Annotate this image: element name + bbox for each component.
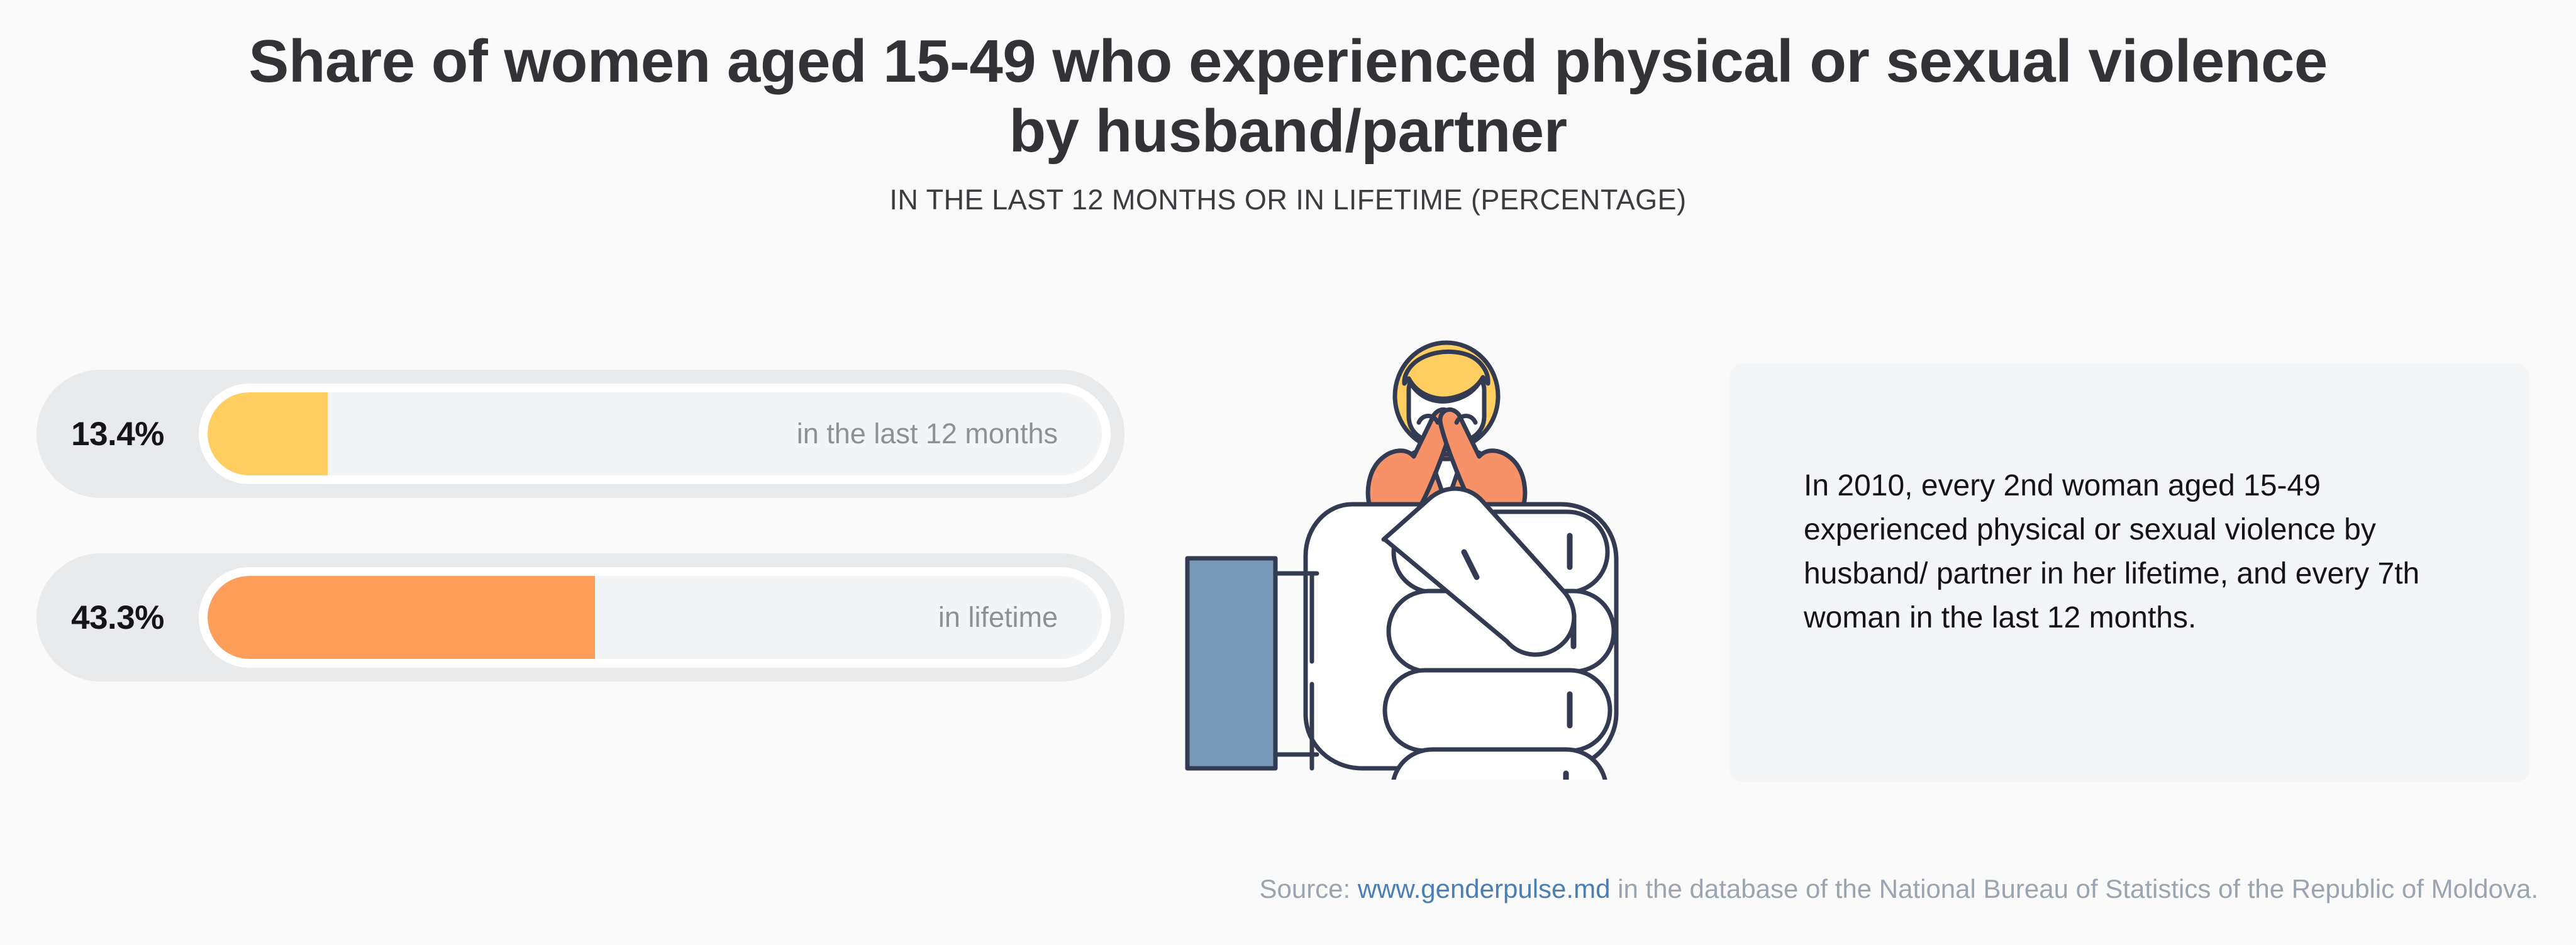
callout-text: In 2010, every 2nd woman aged 15-49 expe… [1804,464,2455,640]
page-subtitle: IN THE LAST 12 MONTHS OR IN LIFETIME (PE… [0,167,2576,217]
callout-box: In 2010, every 2nd woman aged 15-49 expe… [1729,363,2529,782]
bar-label-last-12-months: in the last 12 months [797,417,1058,450]
bar-track-wrapper-lifetime: in lifetime [199,567,1111,668]
bar-chart: 13.4% in the last 12 months 43.3% in lif… [36,370,1124,682]
bar-row-lifetime: 43.3% in lifetime [36,553,1124,682]
bar-label-lifetime: in lifetime [938,601,1058,634]
bar-fill-lifetime [208,576,595,659]
page-title: Share of women aged 15-49 who experience… [0,0,2576,167]
source-link[interactable]: www.genderpulse.md [1358,874,1611,904]
header: Share of women aged 15-49 who experience… [0,0,2576,217]
bar-fill-last-12-months [208,392,328,475]
bar-value-lifetime: 43.3% [36,599,199,637]
bar-row-last-12-months: 13.4% in the last 12 months [36,370,1124,498]
bar-track-last-12-months: in the last 12 months [208,392,1102,475]
source-footer: Source: www.genderpulse.md in the databa… [0,874,2576,904]
source-suffix: in the database of the National Bureau o… [1610,874,2538,904]
fist-gripping-woman-illustration [1182,340,1711,780]
bar-track-lifetime: in lifetime [208,576,1102,659]
bar-track-wrapper-last-12-months: in the last 12 months [199,384,1111,484]
bar-value-last-12-months: 13.4% [36,415,199,453]
source-prefix: Source: [1259,874,1357,904]
